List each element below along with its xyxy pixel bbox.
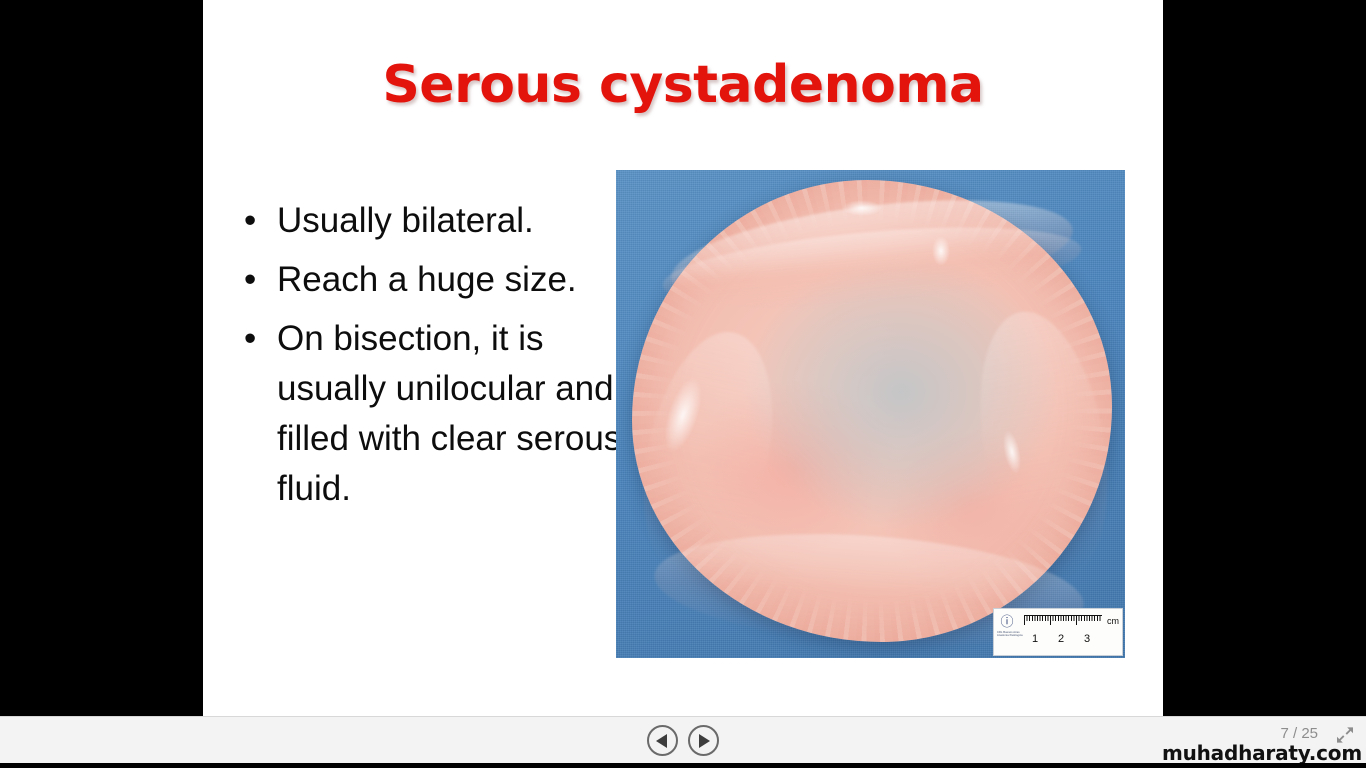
next-slide-button[interactable] — [688, 725, 719, 756]
bullet-text: On bisection, it is usually unilocular a… — [277, 314, 633, 514]
ruler-tick-label: 2 — [1058, 633, 1064, 646]
previous-slide-button[interactable] — [647, 725, 678, 756]
specimen-photograph: ⓘ CRL Buenos Aires Anatomia Patologica c… — [616, 170, 1125, 658]
slide-stage: Serous cystadenoma • Usually bilateral. … — [0, 0, 1366, 716]
bullet-text: Usually bilateral. — [277, 196, 633, 246]
bullet-text: Reach a huge size. — [277, 255, 633, 305]
scale-logo-caption: CRL Buenos Aires Anatomia Patologica — [997, 631, 1023, 638]
slide-canvas: Serous cystadenoma • Usually bilateral. … — [203, 0, 1163, 716]
bullet-marker-icon: • — [244, 314, 256, 364]
bullet-item: • Usually bilateral. — [233, 196, 633, 246]
specular-highlight — [842, 200, 882, 216]
slide-viewer: Serous cystadenoma • Usually bilateral. … — [0, 0, 1366, 768]
scale-logo-icon: ⓘ — [997, 612, 1017, 632]
viewer-toolbar: 7 / 25 muhadharaty.com — [0, 716, 1366, 763]
ruler-tick-label: 1 — [1032, 633, 1038, 646]
triangle-left-icon — [656, 734, 667, 748]
ruler-tick-label: 3 — [1084, 633, 1090, 646]
specular-highlight — [932, 236, 950, 266]
bullet-item: • Reach a huge size. — [233, 255, 633, 305]
viewer-bottom-edge — [0, 763, 1366, 768]
navigation-controls — [647, 725, 719, 756]
ruler-ticks — [1024, 615, 1102, 630]
ruler-unit-label: cm — [1107, 616, 1119, 627]
slide-title: Serous cystadenoma — [203, 54, 1163, 116]
bullet-marker-icon: • — [244, 255, 256, 305]
site-watermark: muhadharaty.com — [1162, 742, 1362, 764]
cystadenoma-specimen — [632, 180, 1112, 642]
bullet-list: • Usually bilateral. • Reach a huge size… — [233, 196, 633, 523]
scale-ruler-card: ⓘ CRL Buenos Aires Anatomia Patologica c… — [993, 608, 1123, 656]
triangle-right-icon — [699, 734, 710, 748]
bullet-item: • On bisection, it is usually unilocular… — [233, 314, 633, 514]
bullet-marker-icon: • — [244, 196, 256, 246]
